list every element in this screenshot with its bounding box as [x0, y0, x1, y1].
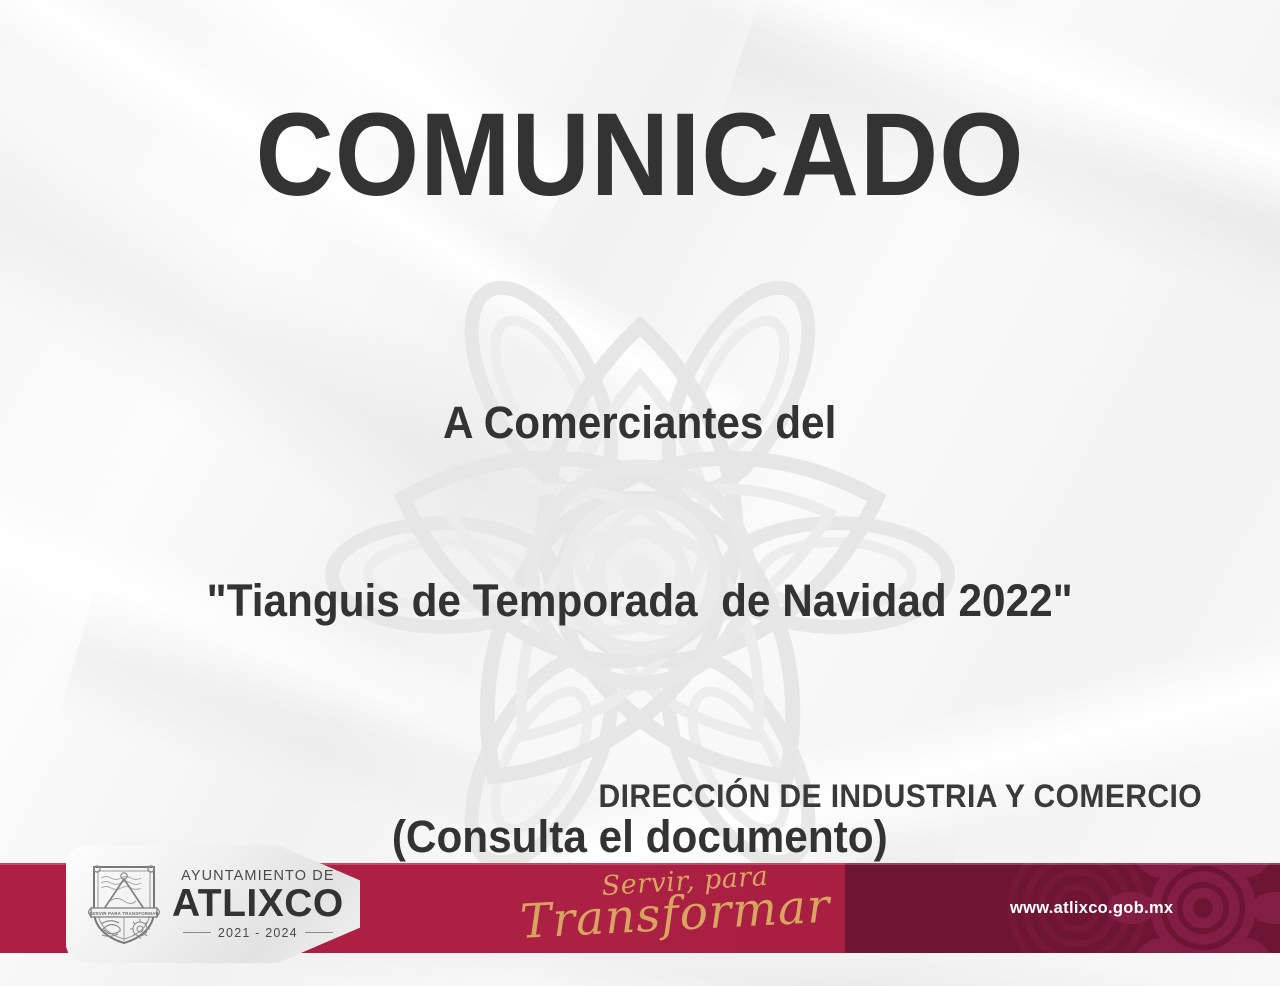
comunicado-poster: COMUNICADO A Comerciantes del "Tianguis … [0, 0, 1280, 986]
poster-content: COMUNICADO A Comerciantes del "Tianguis … [0, 0, 1280, 986]
badge-term-years: 2021 - 2024 [218, 926, 298, 940]
svg-text:SERVIR PARA TRANSFORMAR: SERVIR PARA TRANSFORMAR [89, 911, 159, 916]
website-url[interactable]: www.atlixco.gob.mx [1010, 899, 1173, 918]
subtitle-line-1: A Comerciantes del [207, 393, 1073, 452]
badge-term-row: 2021 - 2024 [183, 926, 333, 940]
page-title: COMUNICADO [255, 96, 1024, 214]
slogan-block: Servir, para Transformar [520, 866, 820, 952]
ayuntamiento-logo-badge[interactable]: SERVIR PARA TRANSFORMAR AYUNTAMIENTO DE … [66, 845, 360, 963]
badge-city-name: ATLIXCO [172, 884, 344, 925]
atlixco-coat-of-arms-icon: SERVIR PARA TRANSFORMAR [88, 861, 160, 947]
department-name: DIRECCIÓN DE INDUSTRIA Y COMERCIO [599, 778, 1202, 815]
subtitle-line-2: "Tianguis de Temporada de Navidad 2022" [207, 571, 1073, 630]
badge-text-block: AYUNTAMIENTO DE ATLIXCO 2021 - 2024 [172, 868, 344, 940]
consult-document-note: (Consulta el documento) [392, 811, 888, 863]
badge-rule-right [305, 932, 333, 933]
badge-rule-left [183, 932, 211, 933]
subtitle-block: A Comerciantes del "Tianguis de Temporad… [207, 274, 1073, 749]
